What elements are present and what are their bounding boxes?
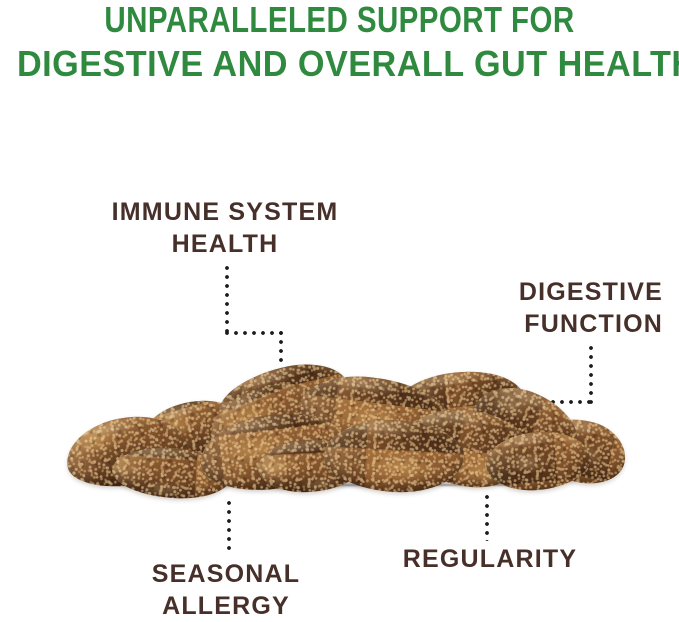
callout-label-regularity: REGULARITY xyxy=(400,543,580,575)
infographic-canvas: UNPARALLELED SUPPORT FOR DIGESTIVE AND O… xyxy=(0,0,679,622)
headline-line-1: UNPARALLELED SUPPORT FOR xyxy=(61,2,618,38)
kibble-piece xyxy=(460,373,590,484)
kibble-piece xyxy=(395,366,526,437)
pile-ground-line xyxy=(95,484,565,486)
headline-line-2: DIGESTIVE AND OVERALL GUT HEALTH xyxy=(17,46,662,82)
callout-label-immune-system-health: IMMUNE SYSTEM HEALTH xyxy=(105,196,345,260)
kibble-piece xyxy=(212,353,355,445)
kibble-piece xyxy=(134,389,251,475)
kibble-piece xyxy=(529,411,632,491)
callout-label-digestive-function: DIGESTIVE FUNCTION xyxy=(419,276,663,340)
kibble-piece xyxy=(110,444,233,502)
kibble-piece xyxy=(200,370,325,469)
kibble-piece xyxy=(296,369,453,455)
callout-label-seasonal-allergy-support: SEASONAL ALLERGY SUPPORT xyxy=(100,558,352,622)
